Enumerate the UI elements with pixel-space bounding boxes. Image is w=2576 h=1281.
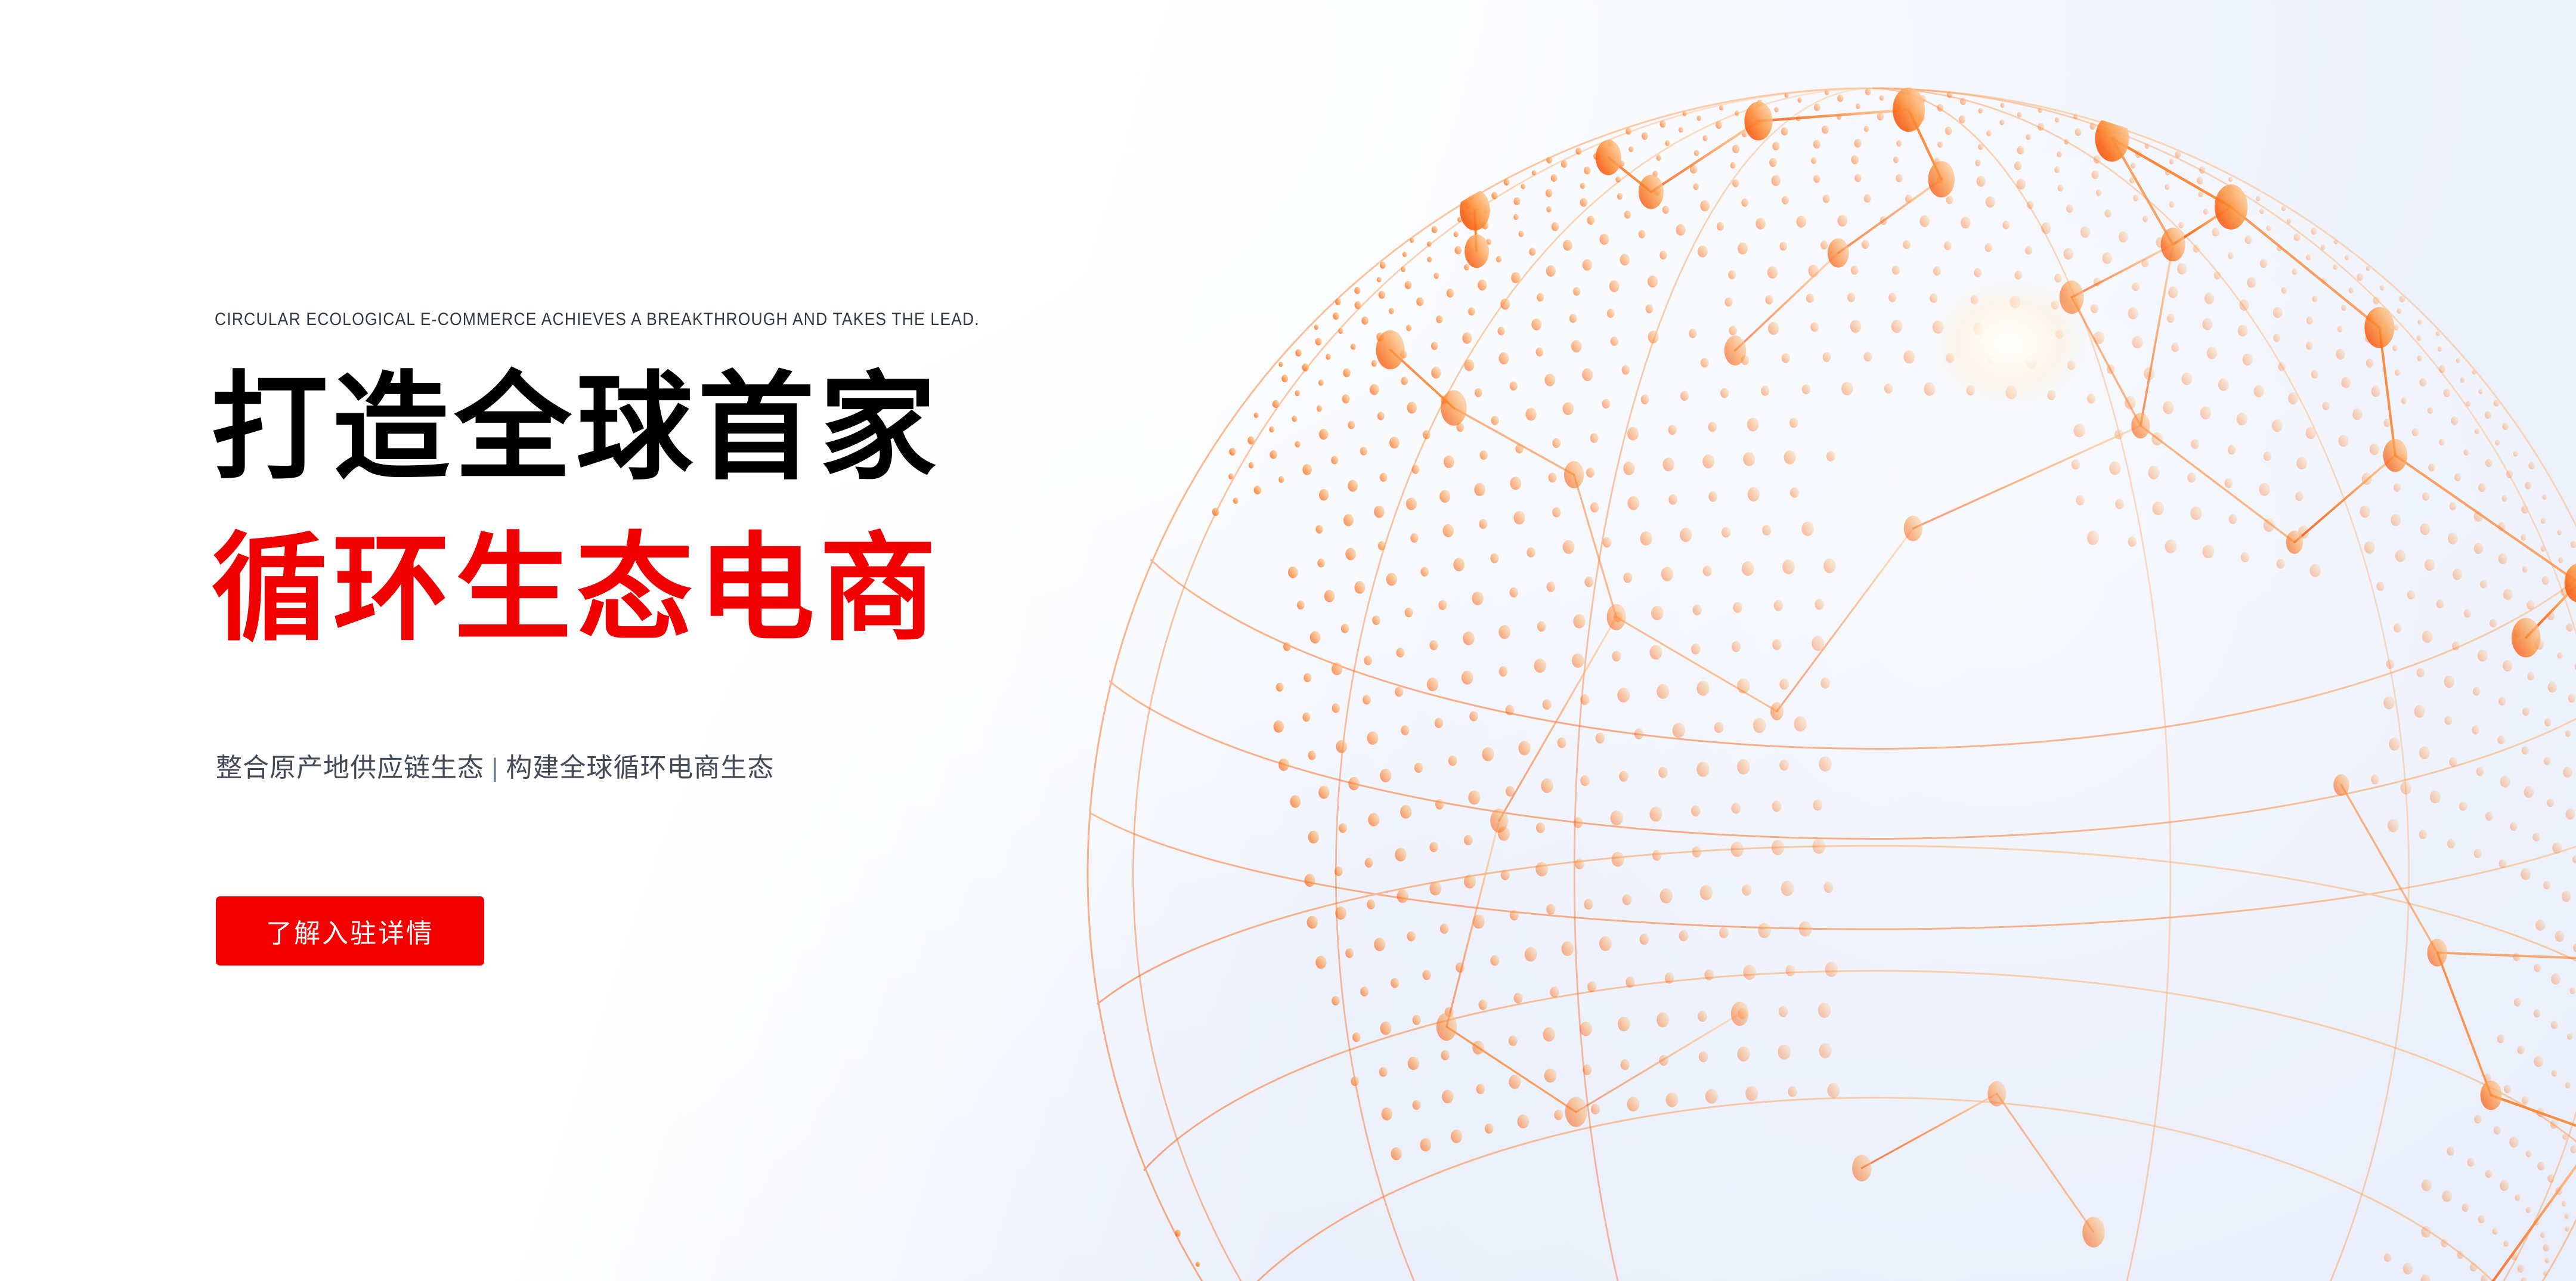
subtitle-left: 整合原产地供应链生态 [216, 753, 484, 782]
subtitle: 整合原产地供应链生态|构建全球循环电商生态 [216, 750, 774, 785]
headline-line-1: 打造全球首家 [211, 370, 941, 487]
hero-banner: CIRCULAR ECOLOGICAL E-COMMERCE ACHIEVES … [0, 0, 2576, 1281]
headline-line-2: 循环生态电商 [211, 531, 941, 648]
subtitle-separator: | [484, 753, 506, 782]
eyebrow-text: CIRCULAR ECOLOGICAL E-COMMERCE ACHIEVES … [215, 309, 980, 330]
hero-copy-column: CIRCULAR ECOLOGICAL E-COMMERCE ACHIEVES … [215, 0, 1169, 1281]
learn-more-button[interactable]: 了解入驻详情 [216, 896, 484, 966]
subtitle-right: 构建全球循环电商生态 [506, 753, 774, 782]
